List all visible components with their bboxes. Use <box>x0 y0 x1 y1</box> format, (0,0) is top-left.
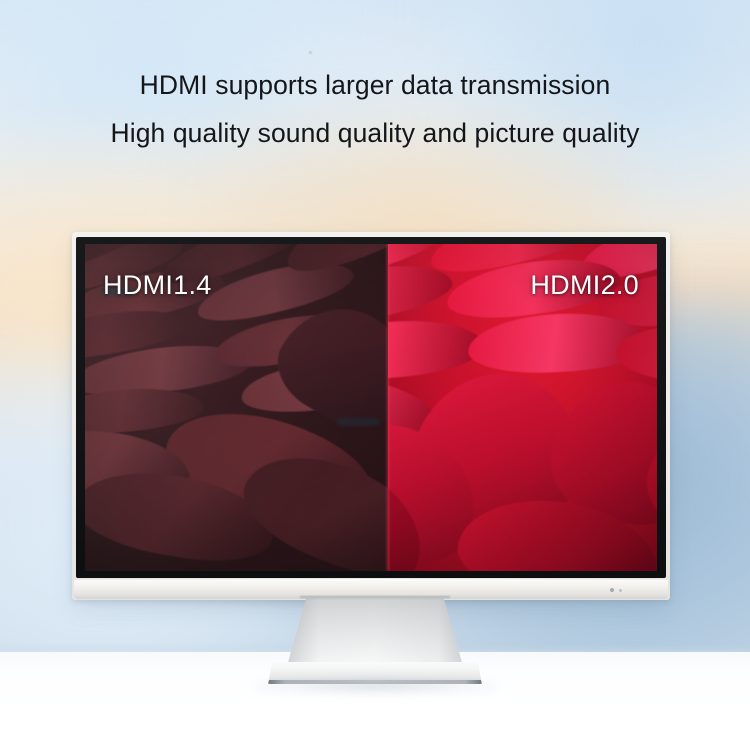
monitor-stand-shadow <box>256 681 496 695</box>
sensor-dot-icon <box>619 589 622 592</box>
background-speck <box>309 51 312 54</box>
monitor: HDMI1.4 HDMI2.0 <box>72 232 670 600</box>
monitor-screen: HDMI1.4 HDMI2.0 <box>85 244 657 571</box>
screen-label-hdmi20: HDMI2.0 <box>530 270 639 301</box>
monitor-stand-neck-top <box>300 596 450 599</box>
headline-line-2: High quality sound quality and picture q… <box>0 118 750 149</box>
monitor-stand-neck-shade <box>287 598 463 666</box>
power-led-icon <box>610 588 614 592</box>
product-banner: HDMI supports larger data transmission H… <box>0 0 750 750</box>
screen-label-hdmi14: HDMI1.4 <box>103 270 212 301</box>
screen-split-seam <box>386 244 390 571</box>
headline-line-1: HDMI supports larger data transmission <box>0 70 750 101</box>
